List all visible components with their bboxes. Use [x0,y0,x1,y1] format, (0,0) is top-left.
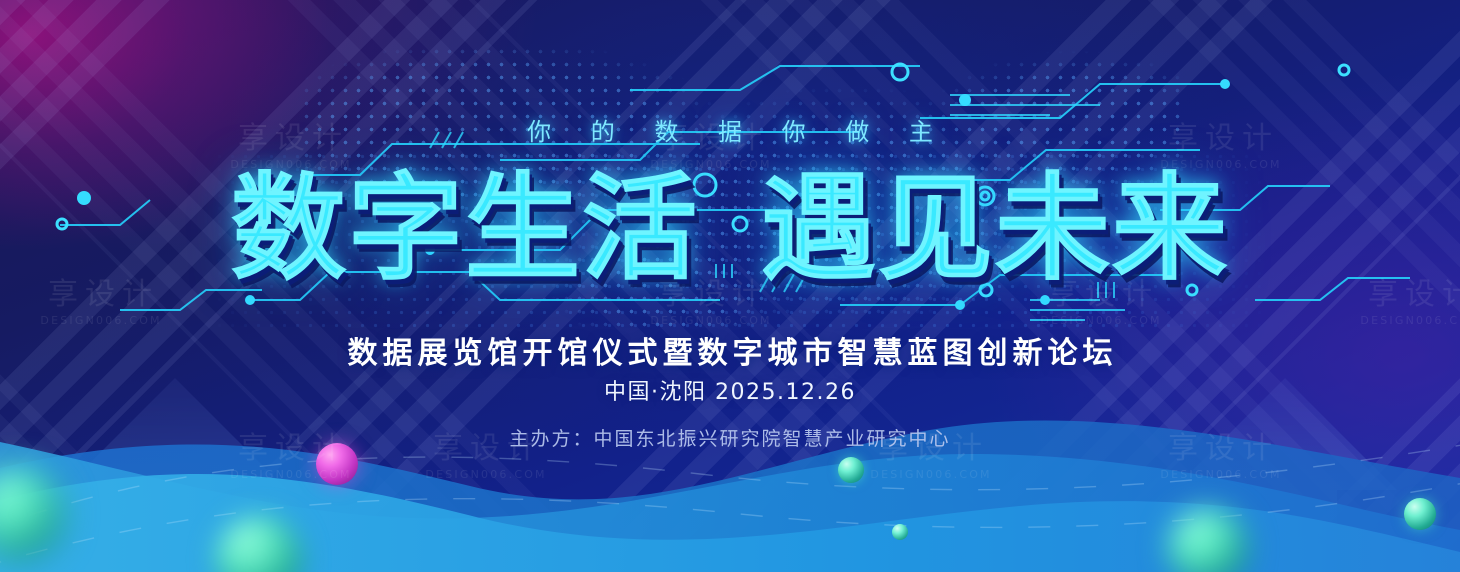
main-title: 数字生活 遇见未来 [0,172,1460,287]
subtitle: 数据展览馆开馆仪式暨数字城市智慧蓝图创新论坛 [0,328,1460,372]
event-poster: 享设计 DESIGN006.COM 享设计 DESIGN006.COM 享设计 … [0,0,1460,572]
place-date: 中国·沈阳 2025.12.26 [0,374,1460,406]
poster-content: 你 的 数 据 你 做 主 数字生活 遇见未来 数据展览馆开馆仪式暨数字城市智慧… [0,0,1460,572]
tagline: 你 的 数 据 你 做 主 [0,112,1460,147]
title-word-2: 遇见未来 [761,172,1229,287]
title-word-1: 数字生活 [231,172,699,287]
organizer: 主办方：中国东北振兴研究院智慧产业研究中心 [0,424,1460,451]
